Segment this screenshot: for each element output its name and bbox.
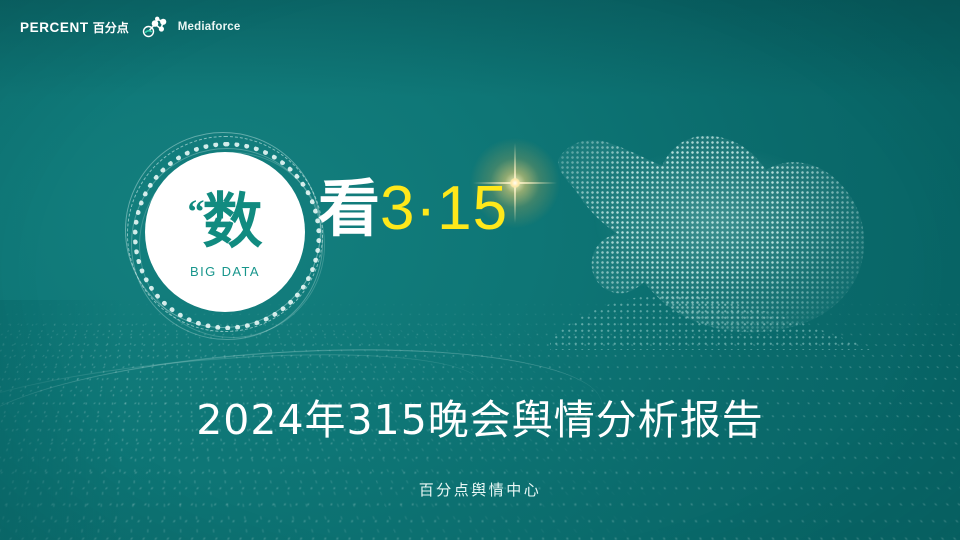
percent-logo-en: PERCENT bbox=[20, 20, 89, 35]
percent-logo-cn: 百分点 bbox=[93, 19, 129, 36]
badge-headline: “ 数 bbox=[188, 192, 263, 252]
hero-number: 3·15 bbox=[380, 178, 508, 240]
badge-subtitle: BIG DATA bbox=[190, 264, 260, 279]
quote-mark: “ bbox=[188, 196, 203, 230]
organization-name: 百分点舆情中心 bbox=[0, 479, 960, 500]
mediaforce-label: Mediaforce bbox=[178, 21, 241, 33]
percent-logo: PERCENT 百分点 bbox=[20, 19, 129, 36]
hero-headline: 看 3·15 bbox=[318, 178, 508, 240]
hero-word: 看 bbox=[318, 178, 380, 240]
header-logo-bar: PERCENT 百分点 Mediaforce bbox=[20, 14, 240, 40]
badge-character: 数 bbox=[203, 192, 263, 252]
badge-content: “ 数 BIG DATA bbox=[145, 152, 305, 312]
title-slide: PERCENT 百分点 Mediaforce bbox=[0, 0, 960, 540]
big-data-badge: “ 数 BIG DATA bbox=[125, 130, 325, 330]
page-title: 2024年315晚会舆情分析报告 bbox=[0, 386, 960, 446]
mediaforce-logo: Mediaforce bbox=[141, 16, 241, 38]
molecule-network-icon bbox=[141, 16, 171, 38]
